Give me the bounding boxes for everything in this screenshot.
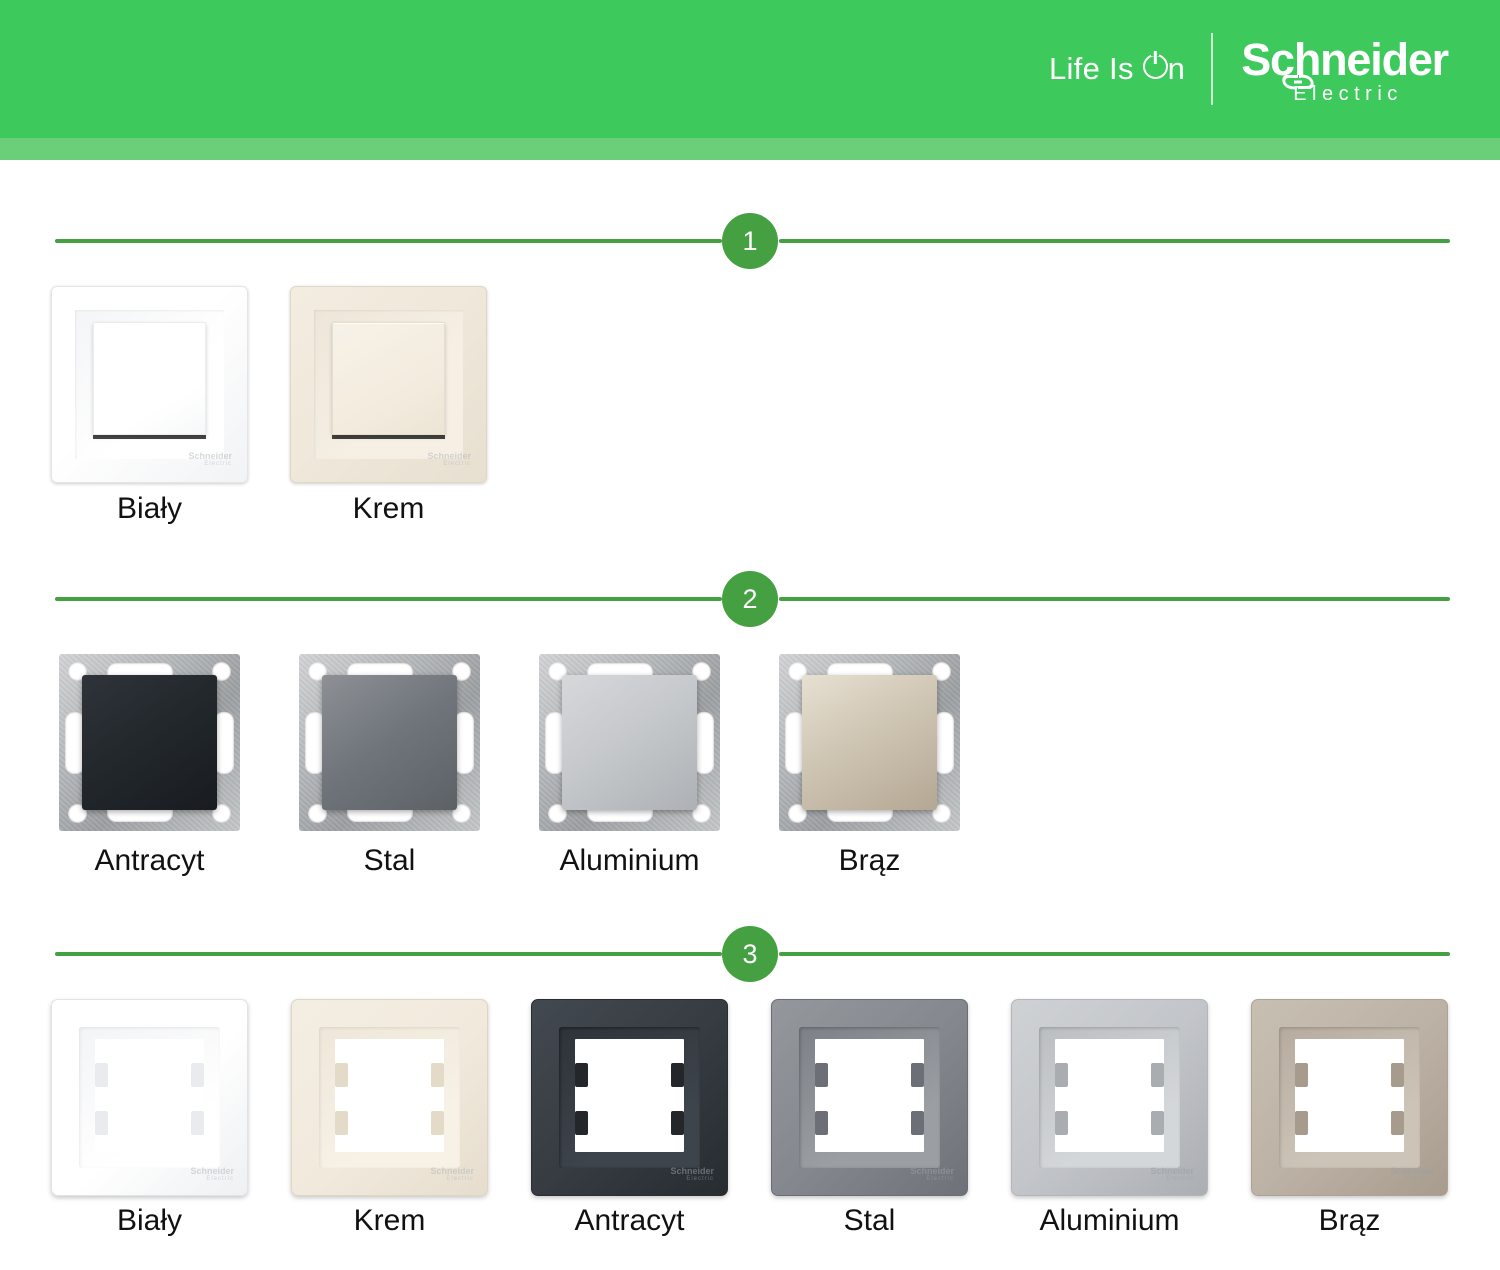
mechanism-antracyt[interactable] (51, 644, 248, 841)
frame-tab-bottom (343, 833, 429, 841)
brand-header-underband (0, 138, 1500, 160)
product-label: Aluminium (1011, 1204, 1208, 1238)
section-divider-1: 1 (0, 212, 1500, 268)
divider-rule-right (779, 597, 1450, 601)
logo-divider (1211, 33, 1213, 105)
life-is-on-tagline: Life Is n (1049, 51, 1211, 87)
mechanism-rocker[interactable] (322, 675, 457, 810)
frame-clip-right-top (1151, 1063, 1164, 1087)
switch-shadow-gap (332, 435, 445, 439)
product-item-frame-stal[interactable]: Schneider Electric Stal (771, 999, 968, 1196)
product-label: Biały (51, 492, 248, 526)
frame-clip-right-bottom (1151, 1111, 1164, 1135)
product-item-frame-krem[interactable]: Schneider Electric Krem (291, 999, 488, 1196)
product-item-mechanism-stal[interactable]: Stal (291, 644, 488, 841)
mechanism-braz[interactable] (771, 644, 968, 841)
schneider-emboss-logo-icon: Schneider Electric (412, 1167, 474, 1188)
product-item-mechanism-braz[interactable]: Brąz (771, 644, 968, 841)
product-label: Antracyt (531, 1204, 728, 1238)
cover-frame-braz[interactable]: Schneider Electric (1251, 999, 1448, 1196)
frame-clip-right-top (1391, 1063, 1404, 1087)
divider-rule-right (779, 952, 1450, 956)
electric-row: Electric (1293, 83, 1448, 106)
product-label: Aluminium (531, 844, 728, 878)
cover-frame-antracyt[interactable]: Schneider Electric (531, 999, 728, 1196)
frame-clip-right-top (191, 1063, 204, 1087)
frame-clip-right-top (671, 1063, 684, 1087)
frame-tab-bottom (583, 833, 669, 841)
product-label: Antracyt (51, 844, 248, 878)
schneider-wordmark: Schneider Electric (1241, 33, 1448, 106)
product-label: Brąz (1251, 1204, 1448, 1238)
frame-window (1055, 1039, 1164, 1152)
mount-slot-right (694, 712, 714, 774)
mechanism-rocker[interactable] (562, 675, 697, 810)
divider-rule-left (55, 952, 722, 956)
frame-clip-left-top (575, 1063, 588, 1087)
divider-rule-left (55, 597, 722, 601)
product-item-frame-antracyt[interactable]: Schneider Electric Antracyt (531, 999, 728, 1196)
frame-window (335, 1039, 444, 1152)
schneider-electric-logo: Life Is n Schneider Electric (1049, 0, 1448, 138)
product-item-frame-bialy[interactable]: Schneider Electric Biały (51, 999, 248, 1196)
frame-window (1295, 1039, 1404, 1152)
product-label: Krem (290, 492, 487, 526)
brand-header-band: Life Is n Schneider Electric (0, 0, 1500, 138)
section-badge-1: 1 (722, 213, 778, 269)
frame-clip-right-bottom (1391, 1111, 1404, 1135)
cover-frame-bialy[interactable]: Schneider Electric (51, 999, 248, 1196)
life-is-on-text: Life Is n (1049, 51, 1185, 87)
frame-tab-bottom (103, 833, 189, 841)
frame-clip-left-top (815, 1063, 828, 1087)
product-row-1: Schneider Electric Biały Schneider Elect… (0, 286, 1500, 526)
mount-slot-right (934, 712, 954, 774)
product-item-switch-krem[interactable]: Schneider Electric Krem (290, 286, 487, 483)
switch-plate-cream[interactable]: Schneider Electric (290, 286, 487, 483)
cover-frame-stal[interactable]: Schneider Electric (771, 999, 968, 1196)
mechanism-aluminium[interactable] (531, 644, 728, 841)
frame-window (95, 1039, 204, 1152)
schneider-name: Schneider (1241, 37, 1448, 82)
product-item-switch-bialy[interactable]: Schneider Electric Biały (51, 286, 248, 483)
switch-plate-white[interactable]: Schneider Electric (51, 286, 248, 483)
schneider-emboss-logo-icon: Schneider Electric (172, 1167, 234, 1188)
product-item-frame-aluminium[interactable]: Schneider Electric Aluminium (1011, 999, 1208, 1196)
section-badge-2: 2 (722, 571, 778, 627)
frame-clip-right-bottom (671, 1111, 684, 1135)
product-row-2: Antracyt Stal (0, 644, 1500, 884)
product-color-chart: Life Is n Schneider Electric 1 (0, 0, 1500, 1270)
mechanism-rocker[interactable] (802, 675, 937, 810)
power-icon (1143, 54, 1168, 79)
schneider-emboss-logo-icon: Schneider Electric (1372, 1167, 1434, 1188)
divider-rule-right (779, 239, 1450, 243)
mount-slot-right (454, 712, 474, 774)
frame-clip-left-top (95, 1063, 108, 1087)
frame-clip-left-bottom (1295, 1111, 1308, 1135)
cover-frame-aluminium[interactable]: Schneider Electric (1011, 999, 1208, 1196)
frame-window (815, 1039, 924, 1152)
product-item-frame-braz[interactable]: Schneider Electric Brąz (1251, 999, 1448, 1196)
mount-slot-right (214, 712, 234, 774)
frame-tab-top (823, 644, 909, 652)
product-label: Biały (51, 1204, 248, 1238)
product-label: Stal (291, 844, 488, 878)
frame-clip-left-top (335, 1063, 348, 1087)
schneider-emboss-logo-icon: Schneider Electric (892, 1167, 954, 1188)
product-label: Stal (771, 1204, 968, 1238)
product-label: Krem (291, 1204, 488, 1238)
mechanism-stal[interactable] (291, 644, 488, 841)
schneider-emboss-logo-icon: Schneider Electric (1132, 1167, 1194, 1188)
schneider-emboss-logo-icon: Schneider Electric (652, 1167, 714, 1188)
section-badge-3: 3 (722, 926, 778, 982)
frame-clip-right-bottom (431, 1111, 444, 1135)
frame-tab-top (103, 644, 189, 652)
frame-clip-left-bottom (575, 1111, 588, 1135)
frame-clip-left-top (1295, 1063, 1308, 1087)
frame-tab-top (583, 644, 669, 652)
product-item-mechanism-aluminium[interactable]: Aluminium (531, 644, 728, 841)
frame-clip-right-bottom (911, 1111, 924, 1135)
section-divider-3: 3 (0, 925, 1500, 981)
frame-clip-right-bottom (191, 1111, 204, 1135)
switch-rocker[interactable] (332, 322, 445, 435)
frame-clip-left-bottom (815, 1111, 828, 1135)
divider-rule-left (55, 239, 722, 243)
frame-tab-top (343, 644, 429, 652)
section-divider-2: 2 (0, 570, 1500, 626)
product-label: Brąz (771, 844, 968, 878)
schneider-s-mark-icon (1281, 69, 1315, 95)
product-item-mechanism-antracyt[interactable]: Antracyt (51, 644, 248, 841)
schneider-emboss-logo-icon: Schneider Electric (172, 452, 232, 473)
frame-clip-left-bottom (1055, 1111, 1068, 1135)
frame-clip-left-top (1055, 1063, 1068, 1087)
cover-frame-krem[interactable]: Schneider Electric (291, 999, 488, 1196)
mechanism-rocker[interactable] (82, 675, 217, 810)
product-row-3: Schneider Electric Biały Schneider (0, 999, 1500, 1259)
frame-clip-right-top (431, 1063, 444, 1087)
schneider-emboss-logo-icon: Schneider Electric (411, 452, 471, 473)
frame-clip-left-bottom (335, 1111, 348, 1135)
frame-clip-right-top (911, 1063, 924, 1087)
frame-tab-bottom (823, 833, 909, 841)
frame-window (575, 1039, 684, 1152)
switch-shadow-gap (93, 435, 206, 439)
switch-rocker[interactable] (93, 322, 206, 435)
frame-clip-left-bottom (95, 1111, 108, 1135)
